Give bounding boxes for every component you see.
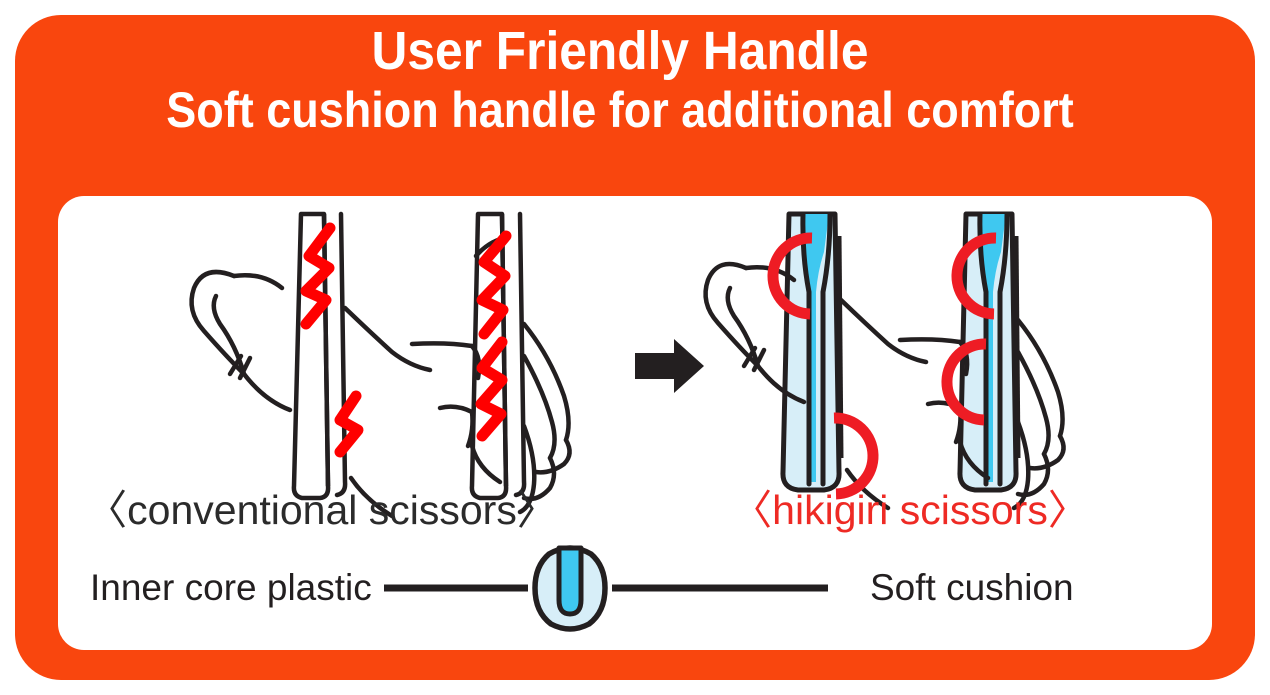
illustration-panel: 〈conventional scissors〉 bbox=[58, 196, 1212, 650]
conventional-caption: 〈conventional scissors〉 bbox=[86, 487, 558, 533]
transition-arrow-icon bbox=[635, 339, 704, 393]
header-block: User Friendly Handle Soft cushion handle… bbox=[0, 22, 1240, 138]
page-title: User Friendly Handle bbox=[50, 22, 1191, 80]
page-subtitle: Soft cushion handle for additional comfo… bbox=[62, 82, 1178, 138]
conventional-scissors-illustration: 〈conventional scissors〉 bbox=[86, 214, 569, 533]
illustration-svg: 〈conventional scissors〉 bbox=[58, 196, 1212, 650]
hikigiri-handle-left bbox=[783, 214, 841, 490]
legend-left-label: Inner core plastic bbox=[90, 567, 372, 608]
cross-section-icon bbox=[535, 548, 605, 629]
hikigiri-scissors-illustration: 〈hikigiri scissors〉 bbox=[706, 214, 1089, 533]
legend-row: Inner core plastic Soft cushion bbox=[90, 548, 1074, 629]
hikigiri-caption: 〈hikigiri scissors〉 bbox=[731, 487, 1089, 533]
infographic-root: User Friendly Handle Soft cushion handle… bbox=[0, 0, 1270, 695]
legend-right-label: Soft cushion bbox=[870, 567, 1074, 608]
